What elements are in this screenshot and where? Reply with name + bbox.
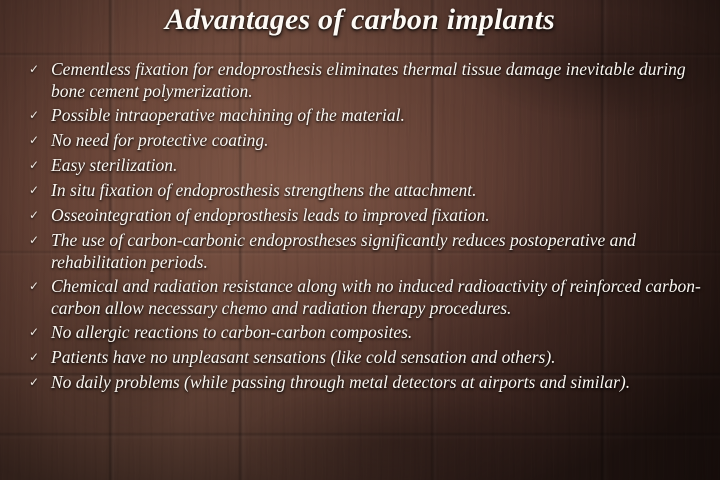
list-item: ✓Patients have no unpleasant sensations …: [24, 346, 708, 369]
checkmark-icon: ✓: [24, 346, 51, 369]
list-item: ✓In situ fixation of endoprosthesis stre…: [24, 179, 708, 202]
checkmark-icon: ✓: [24, 371, 51, 394]
list-item-label: Patients have no unpleasant sensations (…: [51, 346, 708, 368]
checkmark-icon: ✓: [24, 104, 51, 127]
presentation-slide: Advantages of carbon implants ✓Cementles…: [0, 0, 720, 480]
checkmark-icon: ✓: [24, 179, 51, 202]
slide-title: Advantages of carbon implants: [0, 3, 720, 37]
checkmark-icon: ✓: [24, 129, 51, 152]
list-item-label: No daily problems (while passing through…: [51, 371, 708, 393]
list-item: ✓Cementless fixation for endoprosthesis …: [24, 58, 708, 102]
list-item: ✓Easy sterilization.: [24, 154, 708, 177]
list-item-label: Possible intraoperative machining of the…: [51, 104, 708, 126]
list-item-label: Chemical and radiation resistance along …: [51, 275, 708, 319]
list-item-label: In situ fixation of endoprosthesis stren…: [51, 179, 708, 201]
list-item-label: The use of carbon-carbonic endoprosthese…: [51, 229, 708, 273]
list-item: ✓Osseointegration of endoprosthesis lead…: [24, 204, 708, 227]
list-item: ✓No daily problems (while passing throug…: [24, 371, 708, 394]
list-item-label: Cementless fixation for endoprosthesis e…: [51, 58, 708, 102]
checkmark-icon: ✓: [24, 154, 51, 177]
checkmark-icon: ✓: [24, 275, 51, 298]
list-item-label: No need for protective coating.: [51, 129, 708, 151]
advantages-bullet-list: ✓Cementless fixation for endoprosthesis …: [24, 58, 708, 396]
list-item-label: No allergic reactions to carbon-carbon c…: [51, 321, 708, 343]
checkmark-icon: ✓: [24, 58, 51, 81]
checkmark-icon: ✓: [24, 321, 51, 344]
slide-content: Advantages of carbon implants ✓Cementles…: [0, 0, 720, 480]
list-item: ✓Possible intraoperative machining of th…: [24, 104, 708, 127]
checkmark-icon: ✓: [24, 229, 51, 252]
list-item: ✓The use of carbon-carbonic endoprosthes…: [24, 229, 708, 273]
list-item-label: Osseointegration of endoprosthesis leads…: [51, 204, 708, 226]
list-item-label: Easy sterilization.: [51, 154, 708, 176]
checkmark-icon: ✓: [24, 204, 51, 227]
list-item: ✓No need for protective coating.: [24, 129, 708, 152]
list-item: ✓Chemical and radiation resistance along…: [24, 275, 708, 319]
list-item: ✓No allergic reactions to carbon-carbon …: [24, 321, 708, 344]
